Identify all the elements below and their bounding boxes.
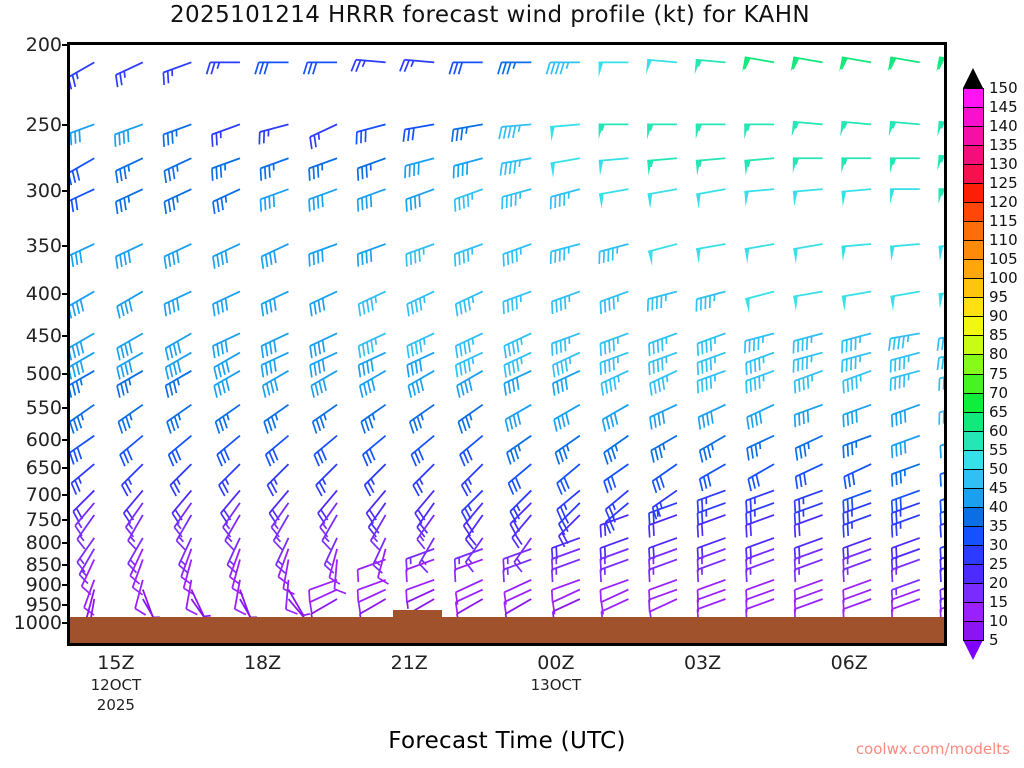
y-tick-label-450: 450 — [26, 325, 62, 347]
wind-barb — [553, 599, 580, 618]
wind-barb — [217, 436, 240, 466]
colorbar-segment-20 — [963, 564, 984, 584]
wind-barb — [164, 291, 191, 316]
colorbar-segment-35 — [963, 507, 984, 527]
wind-barb — [309, 158, 337, 181]
colorbar-label-55: 55 — [989, 441, 1008, 459]
wind-barb — [745, 333, 774, 353]
wind-barb — [698, 333, 726, 356]
wind-barb — [651, 436, 677, 463]
wind-barb — [696, 189, 725, 209]
wind-barb — [115, 124, 143, 147]
wind-barb — [117, 353, 143, 380]
wind-barb — [456, 291, 483, 316]
wind-barb — [601, 371, 628, 396]
colorbar-label-125: 125 — [989, 174, 1018, 192]
colorbar-segment-70 — [963, 374, 984, 394]
wind-barb — [71, 464, 94, 494]
colorbar-label-60: 60 — [989, 422, 1008, 440]
wind-barb — [888, 57, 920, 72]
wind-barb — [163, 124, 191, 147]
wind-barb — [940, 490, 944, 513]
colorbar-segment-95 — [963, 278, 984, 298]
wind-barb — [261, 291, 288, 316]
wind-barb — [70, 244, 94, 269]
wind-barb — [551, 189, 580, 209]
y-tick-label-550: 550 — [26, 397, 62, 419]
wind-barb — [550, 124, 580, 141]
wind-barb — [554, 405, 580, 432]
wind-barb — [793, 333, 822, 353]
wind-barb — [696, 158, 726, 175]
wind-barb — [892, 490, 920, 513]
wind-barb — [892, 405, 920, 428]
wind-barb — [212, 158, 240, 181]
colorbar-segment-50 — [963, 450, 984, 470]
wind-barb — [550, 158, 579, 178]
wind-barb — [170, 464, 191, 496]
colorbar-label-20: 20 — [989, 574, 1008, 592]
wind-barb — [744, 158, 774, 175]
wind-barb — [219, 464, 240, 496]
colorbar-segment-145 — [963, 88, 984, 108]
wind-barb — [116, 158, 143, 183]
wind-barb — [267, 464, 288, 496]
x-tick-label-06Z: 06Z — [831, 652, 868, 674]
wind-barb — [696, 124, 726, 139]
wind-barb — [698, 371, 726, 394]
wind-barb — [842, 333, 871, 353]
wind-barb — [169, 436, 192, 466]
colorbar-label-130: 130 — [989, 155, 1018, 173]
wind-barb — [841, 244, 871, 261]
wind-barb — [648, 244, 677, 266]
wind-barb — [647, 124, 677, 139]
wind-barb — [891, 371, 920, 391]
terrain-band — [70, 617, 944, 643]
wind-barb — [696, 291, 725, 311]
x-tick-label-15Z: 15Z — [97, 652, 134, 674]
y-tick-label-400: 400 — [26, 283, 62, 305]
page-title: 2025101214 HRRR forecast wind profile (k… — [0, 2, 980, 28]
wind-barb — [747, 405, 774, 430]
wind-barb — [455, 189, 483, 212]
wind-barb — [309, 244, 337, 267]
colorbar-segment-90 — [963, 297, 984, 317]
colorbar-label-95: 95 — [989, 288, 1008, 306]
wind-barb — [413, 464, 434, 496]
wind-barb — [400, 60, 434, 72]
wind-barb — [70, 353, 94, 380]
wind-barb — [261, 158, 289, 181]
wind-barb — [363, 436, 386, 466]
wind-barb — [166, 353, 192, 380]
wind-barb — [647, 158, 677, 175]
wind-barb — [449, 62, 482, 74]
wind-barb — [891, 353, 920, 373]
wind-barb — [745, 291, 774, 313]
wind-barb — [116, 189, 143, 214]
wind-barb — [599, 124, 629, 139]
wind-barb — [599, 189, 628, 209]
wind-barb — [116, 244, 143, 269]
wind-barb — [407, 291, 434, 316]
wind-barb — [844, 464, 871, 489]
colorbar-segment-40 — [963, 488, 984, 508]
wind-barb — [937, 333, 944, 350]
wind-barb — [356, 124, 385, 144]
wind-barb — [940, 464, 944, 487]
wind-barb — [405, 158, 434, 178]
wind-barb — [164, 189, 191, 214]
wind-barb — [553, 371, 580, 396]
wind-barb — [82, 559, 95, 594]
colorbar-segment-25 — [963, 545, 984, 565]
wind-barb-field — [70, 45, 944, 643]
wind-barb — [843, 371, 871, 394]
colorbar-segment-75 — [963, 354, 984, 374]
colorbar-label-25: 25 — [989, 555, 1008, 573]
colorbar-segment-135 — [963, 126, 984, 146]
wind-barb — [646, 60, 677, 75]
colorbar-label-50: 50 — [989, 460, 1008, 478]
wind-barb — [939, 244, 944, 261]
wind-barb — [359, 291, 386, 316]
wind-barb — [135, 580, 146, 615]
colorbar-segment-60 — [963, 412, 984, 432]
wind-barb — [503, 244, 531, 267]
wind-barb — [452, 124, 483, 141]
wind-barb — [70, 405, 94, 434]
wind-barb — [839, 57, 871, 72]
wind-barb — [599, 244, 628, 264]
colorbar-label-115: 115 — [989, 212, 1018, 230]
wind-barb — [213, 244, 240, 269]
colorbar-segment-105 — [963, 240, 984, 260]
wind-barb — [603, 405, 629, 432]
colorbar-segment-65 — [963, 393, 984, 413]
wind-barb — [70, 62, 94, 89]
wind-barb — [890, 189, 920, 204]
wind-barb — [70, 436, 94, 465]
colorbar-segment-100 — [963, 259, 984, 279]
colorbar-label-150: 150 — [989, 79, 1018, 97]
wind-barb — [164, 158, 191, 183]
wind-barb — [358, 158, 386, 181]
wind-barb — [649, 353, 677, 376]
wind-barb — [939, 291, 944, 308]
wind-barb — [406, 244, 434, 267]
wind-barb — [358, 244, 386, 267]
wind-barb — [890, 291, 919, 311]
colorbar-over-arrow — [963, 68, 983, 88]
wind-barb — [650, 371, 677, 396]
wind-barb — [937, 353, 944, 370]
colorbar-segment-85 — [963, 316, 984, 336]
wind-barb — [70, 291, 94, 318]
wind-barb — [361, 405, 385, 434]
wind-barb — [266, 436, 289, 466]
colorbar: 5101520253035404550556065707580859095100… — [963, 88, 984, 640]
wind-barb — [843, 405, 871, 428]
wind-barb — [890, 244, 920, 261]
wind-barb — [214, 371, 240, 398]
colorbar-label-110: 110 — [989, 231, 1018, 249]
wind-barb — [214, 353, 240, 380]
wind-barb — [746, 371, 774, 394]
wind-barb — [235, 580, 246, 615]
colorbar-label-120: 120 — [989, 193, 1018, 211]
wind-barb — [505, 405, 531, 432]
x-date-label: 12OCT — [91, 676, 142, 694]
wind-barb — [213, 189, 240, 214]
wind-barb — [600, 291, 628, 314]
wind-barb — [358, 189, 386, 212]
wind-barb — [166, 333, 192, 360]
wind-barb — [499, 124, 531, 139]
wind-barb — [698, 405, 725, 430]
wind-barb — [213, 291, 240, 316]
wind-barb — [793, 244, 822, 264]
wind-barb — [255, 62, 288, 74]
wind-barb — [507, 436, 531, 465]
y-tick-label-800: 800 — [26, 532, 62, 554]
wind-barb — [700, 436, 726, 463]
wind-barb — [454, 158, 483, 178]
wind-barb — [316, 464, 337, 496]
wind-barb — [163, 62, 191, 85]
colorbar-label-70: 70 — [989, 384, 1008, 402]
wind-barb — [117, 333, 143, 360]
wind-barb — [70, 124, 94, 147]
colorbar-segment-140 — [963, 107, 984, 127]
colorbar-segment-15 — [963, 583, 984, 603]
wind-barb — [841, 189, 871, 206]
wind-barb — [460, 436, 483, 466]
wind-barb — [700, 464, 726, 491]
wind-barb — [604, 464, 628, 493]
y-tick-label-250: 250 — [26, 114, 62, 136]
colorbar-label-40: 40 — [989, 498, 1008, 516]
colorbar-label-35: 35 — [989, 517, 1008, 535]
terrain-bump — [393, 610, 442, 617]
x-tick-label-21Z: 21Z — [391, 652, 428, 674]
x-date-label: 2025 — [97, 696, 135, 714]
wind-barb — [122, 464, 143, 496]
wind-barb — [378, 549, 389, 584]
wind-barb — [742, 57, 774, 72]
y-tick-label-200: 200 — [26, 34, 62, 56]
wind-barb — [314, 436, 337, 466]
colorbar-segment-10 — [963, 602, 984, 622]
x-date-label: 13OCT — [531, 676, 582, 694]
wind-barb — [552, 291, 580, 314]
colorbar-segment-110 — [963, 221, 984, 241]
wind-barb — [116, 62, 143, 87]
wind-barb — [599, 62, 629, 77]
wind-barb — [599, 158, 629, 175]
colorbar-segment-125 — [963, 164, 984, 184]
x-tick-label-00Z: 00Z — [537, 652, 574, 674]
wind-barb — [842, 353, 871, 373]
wind-barb — [840, 122, 871, 137]
y-axis: 2002503003504004505005506006507007508008… — [0, 42, 62, 646]
wind-barb — [936, 57, 944, 72]
wind-barb — [649, 333, 677, 356]
wind-barb — [261, 189, 289, 212]
wind-barb — [648, 291, 677, 311]
wind-barb — [264, 405, 288, 434]
colorbar-label-75: 75 — [989, 365, 1008, 383]
wind-barb — [313, 405, 337, 434]
wind-barb — [938, 189, 944, 204]
wind-barb — [695, 60, 726, 75]
wind-barb — [843, 436, 871, 459]
wind-barb — [283, 559, 294, 594]
wind-barb — [70, 189, 94, 214]
colorbar-segment-80 — [963, 335, 984, 355]
wind-barb — [419, 538, 434, 573]
wind-barb — [939, 405, 944, 425]
plot-area — [67, 42, 947, 646]
wind-barb — [555, 436, 579, 465]
wind-barb — [650, 405, 677, 430]
y-tick-label-850: 850 — [26, 554, 62, 576]
wind-barb — [309, 189, 337, 212]
wind-barb — [334, 559, 346, 593]
colorbar-label-5: 5 — [989, 631, 999, 649]
wind-barb — [795, 490, 823, 513]
colorbar-label-45: 45 — [989, 479, 1008, 497]
colorbar-label-30: 30 — [989, 536, 1008, 554]
wind-barb — [455, 244, 483, 267]
wind-barb — [502, 189, 531, 209]
wind-barb — [791, 57, 823, 72]
wind-barb — [212, 124, 240, 147]
y-tick-label-500: 500 — [26, 363, 62, 385]
wind-barb — [744, 124, 774, 139]
wind-barb — [70, 371, 94, 398]
y-tick-label-350: 350 — [26, 235, 62, 257]
wind-barb — [458, 405, 482, 434]
y-tick-label-650: 650 — [26, 457, 62, 479]
wind-barb — [889, 333, 920, 350]
colorbar-label-90: 90 — [989, 307, 1008, 325]
wind-barb — [259, 124, 288, 144]
wind-barb — [498, 62, 531, 74]
x-axis-title: Forecast Time (UTC) — [67, 728, 947, 754]
colorbar-label-85: 85 — [989, 326, 1008, 344]
wind-barb — [748, 464, 774, 491]
wind-barb — [117, 371, 143, 398]
wind-barb — [557, 464, 580, 494]
wind-barb — [698, 490, 726, 513]
wind-barb — [796, 436, 823, 461]
watermark: coolwx.com/modelts — [856, 740, 1010, 758]
wind-barb — [508, 464, 531, 494]
wind-barb — [889, 122, 920, 137]
wind-barb — [937, 122, 944, 137]
wind-barb — [653, 464, 677, 493]
wind-barb — [796, 464, 823, 489]
x-tick-label-18Z: 18Z — [244, 652, 281, 674]
wind-barb — [310, 124, 337, 149]
colorbar-label-80: 80 — [989, 345, 1008, 363]
wind-barb — [410, 405, 434, 434]
wind-barb — [406, 189, 434, 212]
colorbar-segment-130 — [963, 145, 984, 165]
wind-barb — [793, 291, 822, 311]
wind-barb — [164, 244, 191, 269]
wind-barb — [216, 405, 240, 434]
wind-barb — [546, 62, 579, 74]
y-tick-label-600: 600 — [26, 429, 62, 451]
colorbar-segment-55 — [963, 431, 984, 451]
wind-barb — [795, 371, 823, 394]
wind-barb — [403, 124, 434, 141]
colorbar-label-15: 15 — [989, 593, 1008, 611]
colorbar-segment-120 — [963, 183, 984, 203]
wind-barb — [120, 436, 143, 466]
x-tick-label-03Z: 03Z — [684, 652, 721, 674]
colorbar-segment-115 — [963, 202, 984, 222]
colorbar-segment-30 — [963, 526, 984, 546]
wind-barb — [504, 371, 531, 396]
wind-barb — [117, 291, 143, 318]
colorbar-under-arrow — [963, 640, 983, 660]
y-tick-label-750: 750 — [26, 509, 62, 531]
wind-barb — [551, 244, 580, 264]
x-axis: 15Z18Z21Z00Z03Z06Z12OCT202513OCT — [67, 652, 947, 722]
wind-barb — [70, 158, 94, 185]
wind-barb — [310, 291, 337, 316]
wind-barb — [842, 291, 871, 311]
wind-barb — [304, 62, 337, 74]
colorbar-label-145: 145 — [989, 98, 1018, 116]
colorbar-label-100: 100 — [989, 269, 1018, 287]
wind-barb — [351, 60, 385, 72]
wind-barb — [648, 189, 677, 209]
wind-barb — [793, 353, 822, 373]
wind-barb — [207, 62, 240, 74]
y-tick-label-1000: 1000 — [14, 612, 62, 634]
colorbar-label-10: 10 — [989, 612, 1008, 630]
wind-barb — [747, 436, 774, 461]
wind-barb — [503, 291, 531, 314]
wind-barb — [795, 405, 823, 428]
colorbar-segment-5 — [963, 621, 984, 641]
wind-barb — [411, 436, 434, 466]
wind-barb — [843, 490, 871, 513]
wind-barb — [166, 371, 192, 398]
wind-barb — [696, 244, 725, 264]
wind-barb — [365, 464, 386, 496]
wind-barb — [70, 333, 94, 360]
wind-barb — [744, 189, 774, 206]
colorbar-label-65: 65 — [989, 403, 1008, 421]
wind-barb — [892, 436, 920, 459]
wind-barb — [890, 158, 920, 173]
wind-barb — [746, 490, 774, 513]
wind-barb — [841, 158, 871, 173]
wind-barb — [167, 405, 191, 434]
wind-barb — [462, 464, 483, 496]
wind-barb — [552, 333, 580, 356]
wind-barb — [600, 353, 628, 376]
wind-barb — [500, 158, 531, 175]
wind-barb — [792, 122, 823, 137]
wind-barb — [600, 333, 628, 356]
